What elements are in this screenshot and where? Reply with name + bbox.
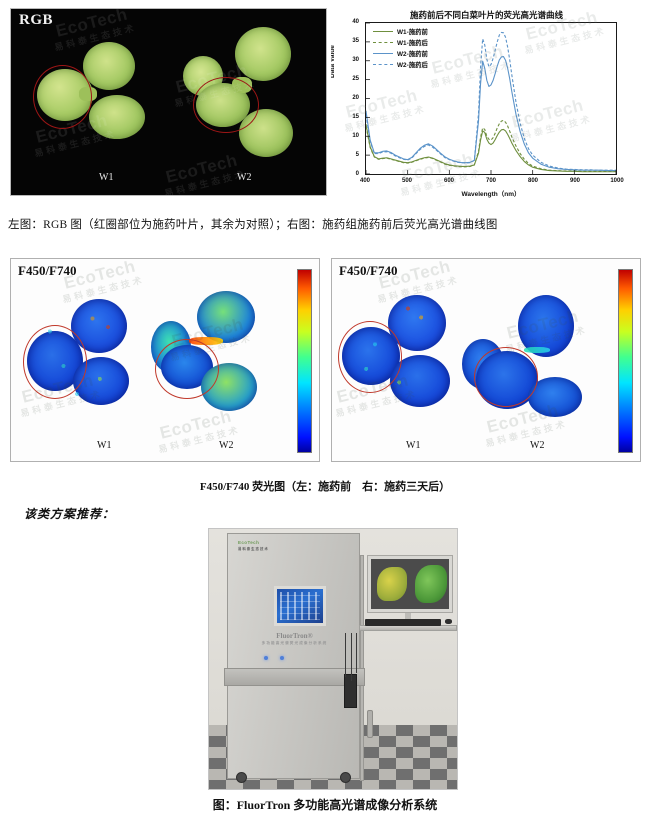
treated-area-ring-w1 (33, 65, 92, 129)
chart-x-axis-label: Wavelength（nm） (365, 188, 617, 198)
status-led (264, 656, 268, 660)
legend-item: W2-施药前 (373, 48, 428, 58)
legend-label: W2-施药前 (397, 49, 428, 58)
legend-item: W1-施药后 (373, 37, 428, 47)
rgb-label-w2: W2 (237, 172, 251, 183)
chart-y-axis-label: Data Value (331, 45, 336, 78)
fluorescence-panel-title: F450/F740 (339, 263, 398, 279)
monitor-screen (371, 559, 449, 609)
leaf-w2-b (235, 27, 291, 81)
cable-bundle (356, 633, 357, 673)
fl2-vein-hotspot-w2 (524, 347, 550, 353)
chart-legend: W1-施药前 W1-施药后 W2-施药前 W2-施药后 (373, 26, 428, 70)
y-tick: 0 (343, 171, 359, 177)
legend-swatch-dashed-green (373, 42, 393, 43)
fluorescence-panel-title: F450/F740 (18, 263, 77, 279)
colorbar (297, 269, 312, 453)
y-tick: 25 (343, 76, 359, 82)
treated-area-ring-w2 (155, 339, 219, 399)
figure-row-rgb-and-chart: RGB W1 W2 EcoTech易科泰生态技术 EcoTech易科泰生态技术 … (10, 8, 642, 198)
treated-area-ring-w2 (474, 347, 538, 407)
legend-label: W2-施药后 (397, 60, 428, 69)
colorbar (618, 269, 633, 453)
figure-row-fluorescence: F450/F740 W1 W2 EcoTech易科泰生态技术 EcoTech易科… (10, 258, 642, 464)
figure-caption-instrument: 图：FluorTron 多功能高光谱成像分析系统 (0, 796, 650, 813)
treated-area-ring-w1 (23, 325, 87, 399)
x-tick: 700 (478, 178, 504, 184)
instrument-photo: EcoTech 易科泰生态技术 FluorTron® 多功能高光谱荧光成像分析系… (208, 528, 458, 790)
cabinet-brand: EcoTech (238, 540, 259, 545)
y-tick: 10 (343, 133, 359, 139)
legend-swatch-solid-green (373, 31, 393, 32)
x-tick: 600 (436, 178, 462, 184)
instrument-cabinet: EcoTech 易科泰生态技术 FluorTron® 多功能高光谱荧光成像分析系… (227, 533, 360, 779)
legend-label: W1-施药后 (397, 38, 428, 47)
status-led (280, 656, 284, 660)
mouse[interactable] (445, 619, 452, 624)
computer-monitor (367, 555, 453, 613)
cabinet-door-handle[interactable] (367, 710, 373, 738)
rgb-image-panel: RGB W1 W2 EcoTech易科泰生态技术 EcoTech易科泰生态技术 … (10, 8, 327, 196)
fluorescence-label-w1: W1 (406, 440, 420, 451)
fluorescence-label-w1: W1 (97, 440, 111, 451)
y-tick: 40 (343, 19, 359, 25)
fl-leaf-w2-b (197, 291, 255, 343)
chart-title: 施药前后不同白菜叶片的荧光高光谱曲线 (331, 9, 642, 21)
y-tick: 5 (343, 152, 359, 158)
caster-wheel (340, 772, 351, 783)
x-tick: 800 (520, 178, 546, 184)
instrument-model-label: FluorTron® (228, 632, 361, 640)
cable-bundle (345, 633, 346, 677)
fluorescence-panel-before: F450/F740 W1 W2 EcoTech易科泰生态技术 EcoTech易科… (10, 258, 320, 462)
treated-area-ring-w2 (193, 77, 259, 133)
x-tick: 900 (562, 178, 588, 184)
x-tick: 1000 (604, 178, 630, 184)
keyboard[interactable] (365, 619, 441, 626)
legend-label: W1-施药前 (397, 27, 428, 36)
cabinet-brand-cn: 易科泰生态技术 (238, 546, 269, 551)
watermark-text: EcoTech (49, 9, 135, 43)
legend-swatch-dashed-blue (373, 64, 393, 65)
legend-item: W1-施药前 (373, 26, 428, 36)
legend-swatch-solid-blue (373, 53, 393, 54)
leaf-w1-c (89, 95, 145, 139)
fluorescence-label-w2: W2 (219, 440, 233, 451)
screen-plant-left (377, 567, 407, 601)
recommendation-label: 该类方案推荐： (24, 505, 115, 522)
leaf-w1-b (83, 42, 135, 90)
x-tick: 400 (352, 178, 378, 184)
y-tick: 15 (343, 114, 359, 120)
spectral-chart-panel: 施药前后不同白菜叶片的荧光高光谱曲线 Data Value Wavelength… (331, 8, 642, 198)
figure-caption-fluorescence: F450/F740 荧光图（左：施药前 右：施药三天后） (0, 478, 650, 494)
screen-plant-right (415, 565, 447, 603)
y-tick: 20 (343, 95, 359, 101)
instrument-model-sub-label: 多功能高光谱荧光成像分析系统 (228, 641, 361, 646)
fluorescence-label-w2: W2 (530, 440, 544, 451)
rgb-panel-title: RGB (19, 12, 53, 29)
caster-wheel (236, 772, 247, 783)
y-tick: 35 (343, 38, 359, 44)
rgb-label-w1: W1 (99, 172, 113, 183)
touchscreen-display[interactable] (274, 586, 326, 626)
fluorescence-panel-after: F450/F740 W1 W2 EcoTech易科泰生态技术 EcoTech易科… (331, 258, 641, 462)
cable-bundle (351, 633, 352, 681)
figure-caption-rgb-spectra: 左图：RGB 图（红圈部位为施药叶片，其余为对照）；右图：施药组施药前后荧光高光… (8, 216, 644, 232)
y-tick: 30 (343, 57, 359, 63)
legend-item: W2-施药后 (373, 59, 428, 69)
document-page: RGB W1 W2 EcoTech易科泰生态技术 EcoTech易科泰生态技术 … (0, 0, 650, 819)
treated-area-ring-w1 (338, 321, 402, 393)
x-tick: 500 (394, 178, 420, 184)
